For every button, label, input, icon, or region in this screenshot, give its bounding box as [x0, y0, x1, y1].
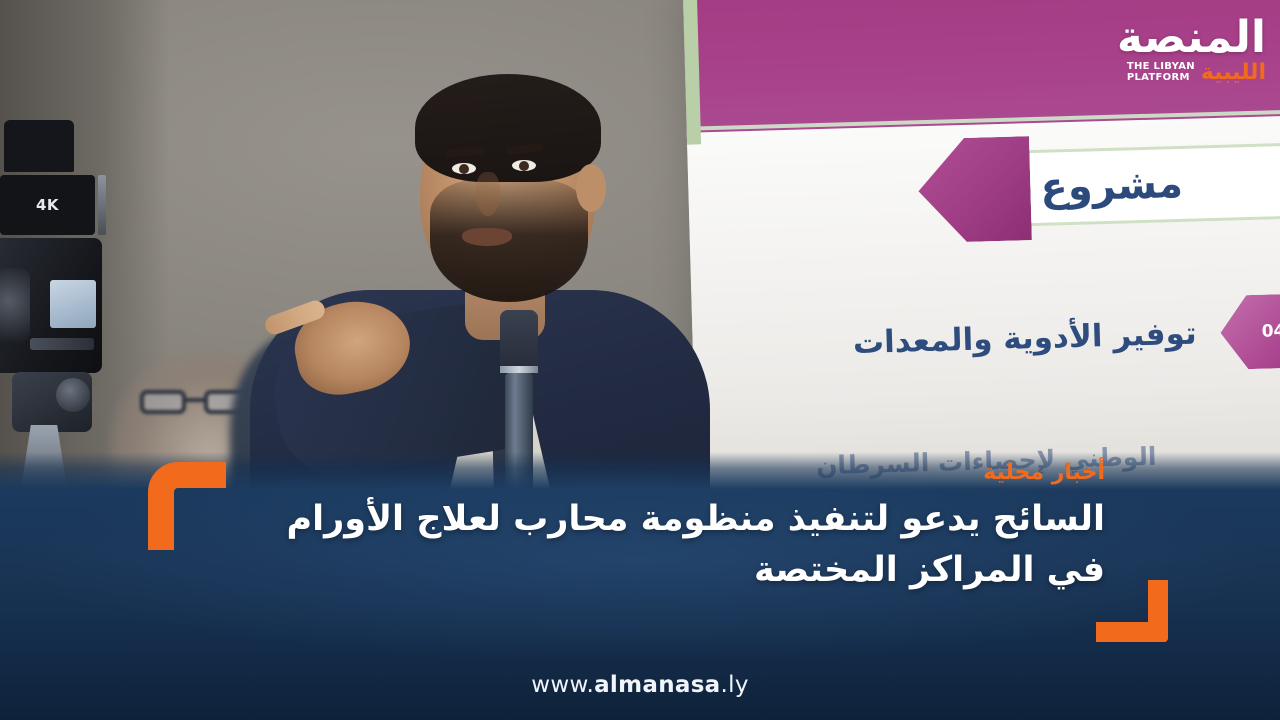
channel-watermark-logo: المنصة THE LIBYAN PLATFORM الليبية: [1070, 16, 1266, 98]
slide-chevron-box: مشروع: [1023, 140, 1280, 226]
category-kicker: أخبار محلية: [983, 460, 1105, 485]
logo-english: THE LIBYAN PLATFORM: [1127, 62, 1195, 84]
camera-buttons: [30, 338, 94, 350]
logo-subline: THE LIBYAN PLATFORM الليبية: [1070, 62, 1266, 84]
video-camera: 4K: [0, 120, 106, 490]
slide-chevron-row: مشروع: [917, 123, 1280, 246]
website-tld: .ly: [721, 672, 749, 698]
logo-english-line-2: PLATFORM: [1127, 73, 1195, 84]
camera-monitor: 4K: [0, 175, 95, 235]
slide-chevron-title: مشروع: [1040, 161, 1184, 211]
microphone-ring: [500, 366, 538, 373]
news-graphic-stage: مشروع 04 توفير الأدوية والمعدات الوطني ل…: [0, 0, 1280, 720]
orange-bracket-top-left-icon: [148, 462, 226, 550]
slide-item-number-chevron: 04: [1220, 293, 1280, 370]
camera-tripod-knob: [56, 378, 90, 412]
camera-4k-label: 4K: [36, 196, 59, 214]
headline: السائح يدعو لتنفيذ منظومة محارب لعلاج ال…: [230, 494, 1105, 596]
camera-lcd-screen: [50, 280, 96, 328]
slide-item-number: 04: [1261, 321, 1280, 342]
speaker-ear: [576, 164, 606, 212]
slide-chevron-shape: [917, 136, 1032, 243]
speaker-eye-right: [512, 160, 536, 171]
website-name: almanasa: [594, 672, 720, 698]
slide-item-label: توفير الأدوية والمعدات: [852, 316, 1197, 362]
slide-item-row: 04 توفير الأدوية والمعدات: [841, 273, 1280, 398]
logo-arabic-sub: الليبية: [1201, 62, 1266, 84]
orange-bracket-bottom-right-icon: [1096, 580, 1168, 642]
camera-lens: [0, 268, 30, 342]
camera-handle: [4, 120, 74, 172]
speaker-eye-left: [452, 163, 476, 174]
camera-monitor-edge: [98, 175, 106, 235]
microphone-head: [500, 310, 538, 372]
speaker-mouth: [462, 228, 512, 246]
website-prefix: www.: [531, 672, 594, 698]
lower-third: أخبار محلية السائح يدعو لتنفيذ منظومة مح…: [0, 452, 1280, 720]
speaker-hair: [415, 74, 601, 182]
website-url: www.almanasa.ly: [0, 672, 1280, 698]
logo-arabic-main: المنصة: [1070, 16, 1266, 60]
speaker-nose: [476, 172, 500, 216]
